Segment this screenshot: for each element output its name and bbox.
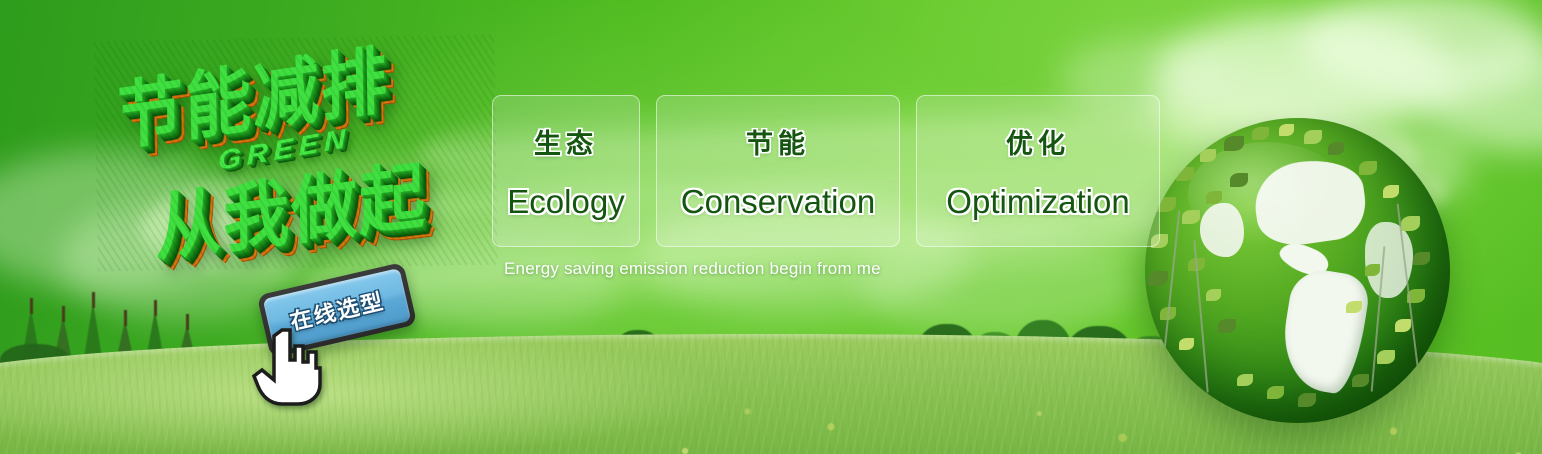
card-optimization[interactable]: 优化 Optimization xyxy=(916,95,1160,247)
feature-cards: 生态 Ecology 节能 Conservation 优化 Optimizati… xyxy=(492,95,1160,247)
headline-artwork: 节能减排 GREEN 从我做起 xyxy=(94,35,498,272)
card-ecology-cn: 生态 xyxy=(534,122,598,161)
card-ecology-en: Ecology xyxy=(507,183,624,221)
ivy-covered-globe-icon xyxy=(1145,118,1450,423)
cta-area: 在线选型 xyxy=(252,272,432,392)
card-conservation[interactable]: 节能 Conservation xyxy=(656,95,900,247)
card-conservation-cn: 节能 xyxy=(746,122,810,161)
green-energy-banner: 节能减排 GREEN 从我做起 生态 Ecology 节能 Conservati… xyxy=(0,0,1542,454)
card-ecology[interactable]: 生态 Ecology xyxy=(492,95,640,247)
card-optimization-cn: 优化 xyxy=(1006,122,1070,161)
globe-sphere xyxy=(1145,118,1450,423)
card-optimization-en: Optimization xyxy=(946,183,1129,221)
card-conservation-en: Conservation xyxy=(681,183,875,221)
pointing-hand-cursor-icon xyxy=(252,326,326,408)
tagline: Energy saving emission reduction begin f… xyxy=(504,259,881,279)
headline-line-2: 从我做起 xyxy=(154,136,427,277)
